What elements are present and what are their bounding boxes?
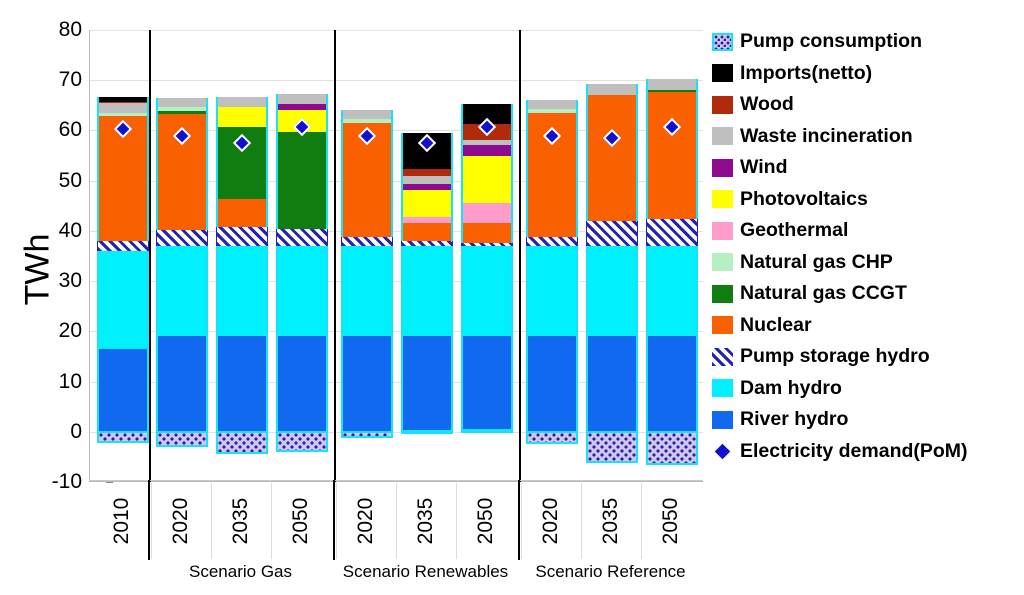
legend-swatch-wood — [712, 96, 733, 114]
legend-label: Nuclear — [740, 316, 812, 336]
bar-segment[interactable] — [97, 113, 149, 117]
bar-segment[interactable] — [276, 229, 328, 247]
legend-item[interactable]: Waste incineration — [712, 121, 1024, 153]
bar-segment[interactable] — [97, 97, 149, 102]
legend-swatch-pump-storage-hydro — [712, 348, 733, 366]
bar-segment[interactable] — [216, 97, 268, 107]
bar-stack[interactable] — [586, 29, 638, 481]
bar-segment-pump-consumption[interactable] — [401, 430, 453, 434]
x-axis-tick: 2010 — [96, 483, 148, 557]
x-axis-tick-label: 2020 — [539, 498, 563, 545]
legend-item[interactable]: Pump storage hydro — [712, 341, 1024, 373]
bar-segment[interactable] — [461, 223, 513, 243]
x-axis: 2010202020352050202020352050202020352050… — [89, 483, 703, 595]
bar-segment[interactable] — [401, 241, 453, 246]
bar-stack[interactable] — [341, 29, 393, 481]
x-axis-line — [89, 480, 703, 481]
bar-segment[interactable] — [586, 84, 638, 95]
bar-segment[interactable] — [216, 199, 268, 227]
sep-2010-gas — [149, 30, 151, 482]
scenario-group-label: Scenario Renewables — [333, 562, 518, 582]
x-axis-tick: 2050 — [645, 483, 697, 557]
sep-renewables-reference — [519, 30, 521, 482]
scenario-group-label: Scenario Gas — [148, 562, 333, 582]
legend-label: Natural gas CCGT — [740, 284, 907, 304]
bar-segment[interactable] — [276, 132, 328, 229]
bar-segment[interactable] — [97, 102, 149, 104]
bar-segment[interactable] — [526, 109, 578, 113]
x-axis-tick: 2035 — [215, 483, 267, 557]
bar-segment-pump-consumption[interactable] — [97, 431, 149, 444]
bar-segment[interactable] — [461, 243, 513, 247]
bar-segment[interactable] — [401, 223, 453, 241]
y-axis-tick-label: -10 — [30, 471, 82, 492]
legend-item[interactable]: Photovoltaics — [712, 184, 1024, 216]
bar-stack[interactable] — [276, 29, 328, 481]
bar-segment[interactable] — [341, 119, 393, 123]
y-axis-tick-label: 40 — [30, 220, 82, 241]
bar-segment-pump-consumption[interactable] — [341, 431, 393, 438]
bar-segment[interactable] — [216, 246, 268, 335]
x-axis-tick-label: 2035 — [599, 498, 623, 545]
bar-stack[interactable] — [646, 29, 698, 481]
bar-segment[interactable] — [526, 336, 578, 431]
x-axis-tick: 2050 — [275, 483, 327, 557]
legend-swatch-dam_hydro — [712, 379, 733, 397]
legend-swatch-demand-diamond-icon — [715, 443, 731, 459]
legend-item[interactable]: Natural gas CHP — [712, 247, 1024, 279]
scenario-group-label: Scenario Reference — [518, 562, 703, 582]
bar-segment[interactable] — [401, 176, 453, 184]
x-axis-tick-label: 2020 — [354, 498, 378, 545]
bar-segment[interactable] — [461, 140, 513, 145]
legend-item[interactable]: Electricity demand(PoM) — [712, 436, 1024, 468]
bar-segment-pump-consumption[interactable] — [526, 431, 578, 444]
x-axis-group-separator — [148, 480, 150, 560]
legend-label: Pump storage hydro — [740, 347, 930, 367]
bar-segment[interactable] — [156, 230, 208, 247]
y-axis-tick-label: 60 — [30, 119, 82, 140]
x-axis-divider — [521, 483, 522, 559]
bar-segment[interactable] — [401, 184, 453, 191]
legend-swatch-pv — [712, 190, 733, 208]
bar-segment-pump-consumption[interactable] — [276, 431, 328, 452]
legend-swatch-waste — [712, 127, 733, 145]
legend-swatch-river_hydro — [712, 411, 733, 429]
legend-swatch-nuclear — [712, 316, 733, 334]
bar-segment-pump-consumption[interactable] — [156, 431, 208, 448]
bar-segment[interactable] — [156, 246, 208, 335]
legend-item[interactable]: River hydro — [712, 404, 1024, 436]
y-axis-tick-label: 80 — [30, 19, 82, 40]
legend-label: Imports(netto) — [740, 64, 872, 84]
bar-segment[interactable] — [341, 336, 393, 431]
x-axis-divider — [396, 483, 397, 559]
legend-item[interactable]: Pump consumption — [712, 26, 1024, 58]
bar-segment[interactable] — [646, 90, 698, 92]
bar-segment[interactable] — [646, 336, 698, 431]
sep-gas-renewables — [334, 30, 336, 482]
bar-segment[interactable] — [586, 336, 638, 431]
bar-stack[interactable] — [401, 29, 453, 481]
legend-swatch-geothermal — [712, 222, 733, 240]
legend-label: Wind — [740, 158, 787, 178]
legend-item[interactable]: Natural gas CCGT — [712, 278, 1024, 310]
bar-segment[interactable] — [401, 246, 453, 335]
legend-item[interactable]: Imports(netto) — [712, 58, 1024, 90]
x-axis-tick-label: 2050 — [659, 498, 683, 545]
bar-segment[interactable] — [526, 100, 578, 110]
bar-segment[interactable] — [156, 107, 208, 111]
y-axis-tick-label: 70 — [30, 69, 82, 90]
bar-segment[interactable] — [216, 107, 268, 128]
bar-segment[interactable] — [97, 349, 149, 431]
bar-segment[interactable] — [276, 94, 328, 104]
bar-segment[interactable] — [401, 190, 453, 217]
legend-swatch-wind — [712, 159, 733, 177]
bar-segment[interactable] — [97, 103, 149, 113]
legend-item[interactable]: Wind — [712, 152, 1024, 184]
legend-swatch-pump-consumption — [712, 33, 733, 51]
x-axis-tick-label: 2035 — [229, 498, 253, 545]
bar-segment[interactable] — [461, 203, 513, 223]
bar-stack[interactable] — [461, 29, 513, 481]
bar-segment[interactable] — [461, 156, 513, 204]
x-axis-tick-label: 2050 — [289, 498, 313, 545]
x-axis-divider — [151, 483, 152, 559]
legend-label: River hydro — [740, 410, 848, 430]
bar-segment[interactable] — [401, 336, 453, 431]
x-axis-tick-label: 2020 — [169, 498, 193, 545]
legend-item[interactable]: Dam hydro — [712, 373, 1024, 405]
y-axis-ticks: 80706050403020100-10 — [24, 0, 82, 595]
bar-segment[interactable] — [341, 246, 393, 335]
x-axis-divider — [211, 483, 212, 559]
y-axis-tick-label: 20 — [30, 320, 82, 341]
legend-label: Pump consumption — [740, 32, 922, 52]
bar-segment[interactable] — [586, 221, 638, 246]
bar-segment[interactable] — [646, 246, 698, 335]
x-axis-tick: 2020 — [525, 483, 577, 557]
x-axis-divider — [271, 483, 272, 559]
bar-segment[interactable] — [526, 246, 578, 335]
bar-segment-pump-consumption[interactable] — [646, 431, 698, 466]
legend-swatch-gas_ccgt — [712, 285, 733, 303]
bar-segment[interactable] — [341, 237, 393, 246]
bar-stack[interactable] — [216, 29, 268, 481]
bar-segment[interactable] — [156, 336, 208, 431]
x-axis-tick: 2035 — [400, 483, 452, 557]
bar-segment[interactable] — [156, 98, 208, 108]
bar-segment[interactable] — [461, 145, 513, 156]
x-axis-tick: 2020 — [340, 483, 392, 557]
legend-item[interactable]: Geothermal — [712, 215, 1024, 247]
bar-segment[interactable] — [646, 79, 698, 90]
legend-swatch-gas_chp — [712, 253, 733, 271]
legend-swatch-imports — [712, 64, 733, 82]
legend-item[interactable]: Wood — [712, 89, 1024, 121]
x-axis-tick-label: 2035 — [414, 498, 438, 545]
bar-segment-pump-consumption[interactable] — [586, 431, 638, 464]
bar-segment[interactable] — [97, 241, 149, 251]
x-axis-divider — [456, 483, 457, 559]
bar-stack[interactable] — [97, 29, 149, 481]
legend-label: Waste incineration — [740, 127, 913, 147]
bar-stack[interactable] — [526, 29, 578, 481]
legend-label: Geothermal — [740, 221, 848, 241]
bar-segment[interactable] — [341, 110, 393, 120]
legend-label: Photovoltaics — [740, 190, 868, 210]
x-axis-tick-label: 2050 — [474, 498, 498, 545]
x-axis-group-separator — [333, 480, 335, 560]
y-axis-tick-label: 50 — [30, 170, 82, 191]
legend-label: Dam hydro — [740, 379, 842, 399]
bar-segment[interactable] — [156, 111, 208, 114]
legend-label: Electricity demand(PoM) — [740, 442, 968, 462]
bar-segment[interactable] — [97, 251, 149, 349]
chart-legend: Pump consumptionImports(netto)WoodWaste … — [712, 26, 1024, 467]
legend-label: Wood — [740, 95, 794, 115]
bar-segment[interactable] — [646, 219, 698, 246]
bar-segment[interactable] — [401, 169, 453, 177]
y-axis-tick-label: 0 — [30, 421, 82, 442]
bar-segment[interactable] — [586, 95, 638, 221]
plot-area — [89, 30, 703, 482]
bar-segment[interactable] — [586, 246, 638, 335]
bar-segment[interactable] — [216, 227, 268, 246]
x-axis-divider — [336, 483, 337, 559]
bar-segment[interactable] — [216, 336, 268, 431]
bar-segment[interactable] — [276, 336, 328, 431]
chart-root: TWh 80706050403020100-10 201020202035205… — [0, 0, 1024, 595]
bar-segment[interactable] — [461, 336, 513, 431]
x-axis-group-separator — [518, 480, 520, 560]
legend-label: Natural gas CHP — [740, 253, 893, 273]
y-axis-tick-label: 10 — [30, 371, 82, 392]
bar-segment-pump-consumption[interactable] — [461, 429, 513, 433]
bar-segment[interactable] — [401, 217, 453, 223]
bar-segment[interactable] — [276, 246, 328, 335]
y-axis-tick-label: 30 — [30, 270, 82, 291]
x-axis-tick: 2035 — [585, 483, 637, 557]
bar-segment[interactable] — [646, 92, 698, 220]
legend-item[interactable]: Nuclear — [712, 310, 1024, 342]
x-axis-tick: 2050 — [460, 483, 512, 557]
bar-segment-pump-consumption[interactable] — [216, 431, 268, 454]
bar-stack[interactable] — [156, 29, 208, 481]
bar-segment[interactable] — [276, 104, 328, 110]
bar-segment[interactable] — [526, 237, 578, 247]
x-axis-divider — [641, 483, 642, 559]
x-axis-tick: 2020 — [155, 483, 207, 557]
bar-segment[interactable] — [461, 246, 513, 335]
x-axis-divider — [581, 483, 582, 559]
x-axis-tick-label: 2010 — [110, 498, 134, 545]
